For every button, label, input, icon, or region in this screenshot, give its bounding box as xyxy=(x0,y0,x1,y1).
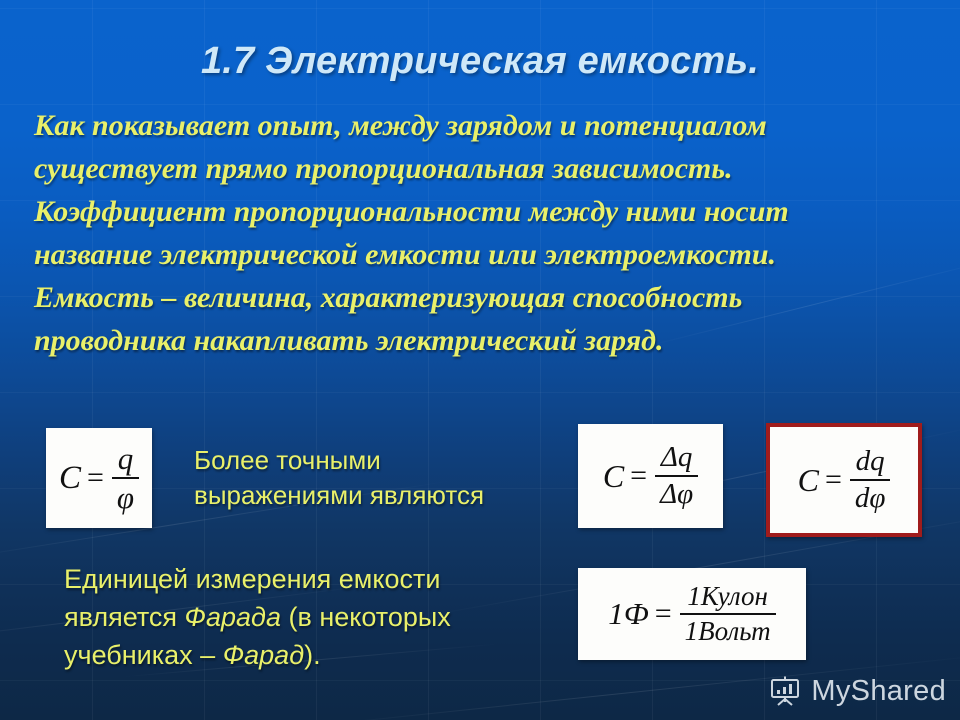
fraction: 1Кулон 1Вольт xyxy=(680,583,776,645)
body-line: существует прямо пропорциональная зависи… xyxy=(34,147,934,190)
equation-lhs: C xyxy=(798,462,825,499)
equation-lhs: 1Ф xyxy=(608,596,654,632)
caption-more-precise: Более точными выражениями являются xyxy=(194,443,554,513)
caption-text: (в некоторых xyxy=(281,602,451,632)
equation-operator: = xyxy=(825,463,850,497)
watermark-label: MyShared xyxy=(811,675,946,708)
formula-capacitance-delta: C = Δq Δφ xyxy=(578,424,723,528)
formula-capacitance-differential: C = dq dφ xyxy=(766,423,922,537)
caption-line: является Фарада (в некоторых xyxy=(64,598,564,636)
caption-unit-of-measure: Единицей измерения емкости является Фара… xyxy=(64,560,564,674)
formula-farad-definition: 1Ф = 1Кулон 1Вольт xyxy=(578,568,806,660)
fraction: Δq Δφ xyxy=(655,443,698,509)
body-paragraph: Как показывает опыт, между зарядом и пот… xyxy=(34,104,934,362)
fraction: q φ xyxy=(112,443,139,513)
fraction-denominator: φ xyxy=(112,477,139,514)
caption-text: является xyxy=(64,602,185,632)
caption-line: учебниках – Фарад). xyxy=(64,636,564,674)
caption-text: ). xyxy=(304,640,321,670)
term-farada: Фарада xyxy=(185,602,281,632)
caption-text: учебниках – xyxy=(64,640,223,670)
presentation-chart-icon xyxy=(768,674,802,708)
watermark: MyShared xyxy=(768,674,946,708)
slide-title: 1.7 Электрическая емкость. xyxy=(0,40,960,83)
fraction-denominator: Δφ xyxy=(655,475,698,510)
body-line: название электрической емкости или элект… xyxy=(34,233,934,276)
caption-line: Единицей измерения емкости xyxy=(64,560,564,598)
equation: C = dq dφ xyxy=(798,447,891,513)
fraction-numerator: Δq xyxy=(656,443,698,475)
slide: 1.7 Электрическая емкость. Как показывае… xyxy=(0,0,960,720)
formula-capacitance-basic: C = q φ xyxy=(46,428,152,528)
equation-lhs: C xyxy=(59,460,87,497)
caption-line: Более точными xyxy=(194,443,554,478)
fraction-numerator: 1Кулон xyxy=(682,583,773,613)
term-farad: Фарад xyxy=(223,640,304,670)
body-line: проводника накапливать электрический зар… xyxy=(34,319,934,362)
fraction-denominator: 1Вольт xyxy=(680,613,776,646)
equation-lhs: C xyxy=(603,458,630,495)
equation-operator: = xyxy=(87,461,112,495)
fraction-denominator: dφ xyxy=(850,479,891,514)
fraction: dq dφ xyxy=(850,447,891,513)
caption-line: выражениями являются xyxy=(194,478,554,513)
fraction-numerator: dq xyxy=(851,447,890,479)
body-line: Емкость – величина, характеризующая спос… xyxy=(34,276,934,319)
body-line: Как показывает опыт, между зарядом и пот… xyxy=(34,104,934,147)
equation: C = q φ xyxy=(59,443,139,513)
equation: 1Ф = 1Кулон 1Вольт xyxy=(608,583,775,645)
fraction-numerator: q xyxy=(113,443,139,477)
equation: C = Δq Δφ xyxy=(603,443,698,509)
equation-operator: = xyxy=(655,597,680,631)
body-line: Коэффициент пропорциональности между ним… xyxy=(34,190,934,233)
equation-operator: = xyxy=(630,459,655,493)
